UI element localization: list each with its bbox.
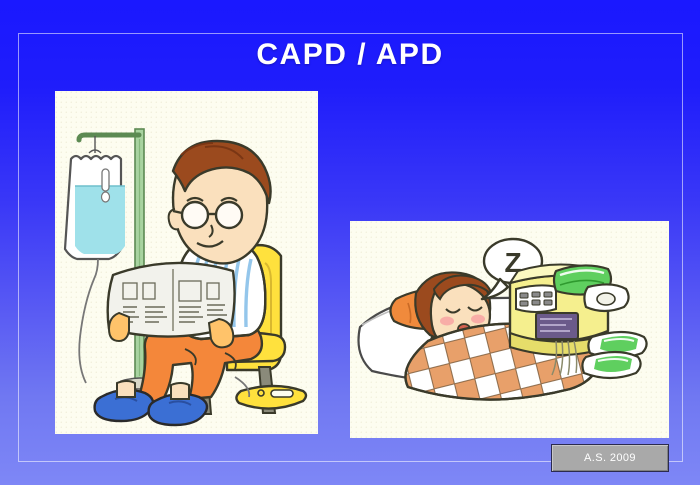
apd-illustration: Z [350, 221, 669, 438]
capd-illustration [55, 91, 318, 434]
credit-badge: A.S. 2009 [551, 444, 669, 472]
page-title: CAPD / APD [0, 38, 700, 72]
credit-text: A.S. 2009 [584, 452, 636, 464]
